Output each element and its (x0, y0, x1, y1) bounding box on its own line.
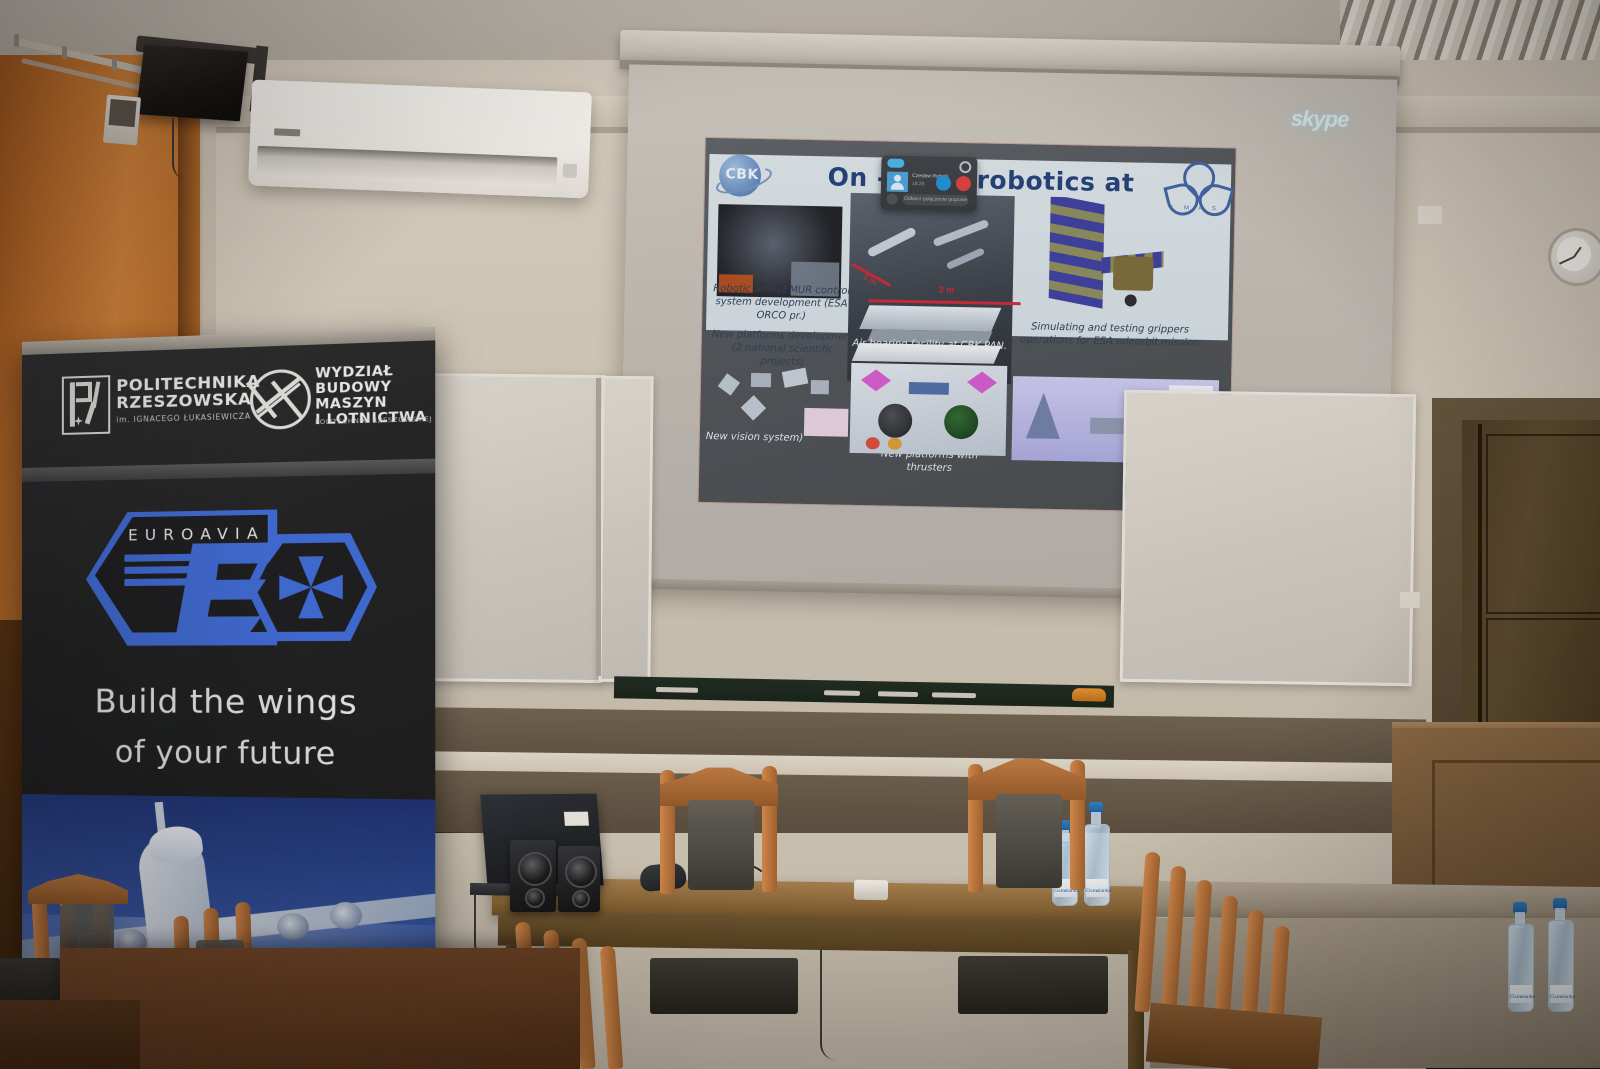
foreground-table-left (0, 1000, 140, 1069)
speaker-woofer (565, 856, 597, 888)
skype-status-text: Odbierz połączenie grupowe (903, 196, 969, 203)
bottle-brand-text: Cisowianka (1510, 995, 1532, 1000)
skype-status-bar[interactable]: Odbierz połączenie grupowe (903, 194, 969, 206)
contact-avatar (887, 172, 908, 192)
answer-call-button[interactable] (936, 176, 951, 191)
whiteboard-eraser[interactable] (1072, 688, 1106, 702)
settings-gear-icon[interactable] (959, 161, 971, 173)
banner-tagline-line2: of your future (22, 734, 435, 773)
slide-caption-grippers: Simulating and testing grippers operatio… (1020, 320, 1200, 350)
euroavia-logo: EUROAVIA (86, 504, 377, 650)
avatar-body-icon (891, 183, 904, 190)
skype-watermark: skype (1291, 106, 1349, 133)
marker[interactable] (656, 687, 698, 693)
whiteboard-panel-right[interactable] (1120, 390, 1417, 687)
side-table (1150, 881, 1600, 923)
airplane-nose (147, 824, 204, 864)
slide-caption-lemur: Robotic arm LEMUR control system develop… (712, 282, 851, 324)
curtain-hook (62, 46, 67, 59)
wall-junction-box (103, 95, 141, 146)
marker[interactable] (878, 691, 918, 697)
slide-graphic-platform-thrusters (850, 363, 1008, 456)
faculty-logo-icon (250, 369, 311, 430)
speaker-tweeter (525, 888, 545, 908)
wall-switch[interactable] (1400, 592, 1420, 608)
whiteboard-panel-hinged[interactable] (598, 376, 653, 683)
water-bottle: Cisowianka (1508, 900, 1532, 1010)
airplane-engine (277, 913, 309, 941)
wall-junction-box-inner (109, 99, 137, 127)
university-name-line2: RZESZOWSKA (116, 389, 251, 412)
end-call-button[interactable] (956, 176, 971, 191)
banner-tagline-line1: Build the wings (22, 682, 435, 722)
desktop-speaker-left (510, 840, 556, 912)
wall-clock (1548, 228, 1600, 286)
speaker-woofer (518, 852, 552, 886)
door-panel-upper (1486, 434, 1600, 614)
airplane-engine (330, 902, 362, 930)
black-wall-panel (136, 45, 248, 122)
power-cable (172, 118, 202, 180)
air-conditioner (248, 80, 592, 199)
politechnika-logo-icon (62, 375, 110, 435)
dimension-label-3m: 3 m (939, 285, 955, 295)
marker[interactable] (932, 692, 976, 698)
more-options-button[interactable] (887, 194, 898, 205)
bottle-label: Cisowianka (1550, 985, 1572, 1003)
skype-call-popup[interactable]: Czesław Rybicki 18:25 Odbierz połączenie… (880, 155, 977, 211)
cbk-logo-text: CBK (721, 166, 763, 183)
whiteboard-hinge (596, 378, 601, 676)
faculty-name-line2: BUDOWY MASZYN (315, 378, 391, 412)
bottle-label: Cisowianka (1086, 879, 1108, 897)
slide-arrow-block (804, 408, 849, 437)
bottle-body: Cisowianka (1084, 824, 1110, 906)
bottle-brand-text: Cisowianka (1086, 889, 1108, 894)
euroavia-wordmark: EUROAVIA (124, 524, 268, 545)
whiteboard-panel-left[interactable] (414, 373, 605, 683)
curtain-hook (112, 58, 117, 71)
slide-photo-satellite (1020, 196, 1223, 340)
wall-outlet[interactable] (1418, 206, 1442, 224)
cbk-logo: CBK (715, 152, 770, 201)
bottle-body: Cisowianka (1548, 920, 1574, 1012)
marker[interactable] (824, 690, 860, 696)
water-bottle: Cisowianka (1548, 896, 1572, 1010)
lecture-hall-photo: skype CBK On - orbit robotics at CBK L M… (0, 0, 1600, 1069)
skype-logo-icon (887, 159, 904, 168)
banner-brand-row: POLITECHNIKA RZESZOWSKA im. IGNACEGO ŁUK… (22, 350, 435, 468)
desktop-speaker-right (558, 846, 600, 912)
university-name: POLITECHNIKA RZESZOWSKA (116, 372, 260, 411)
avatar-head-icon (894, 175, 901, 182)
curtain-hook (14, 34, 19, 47)
laptop-sticker (564, 812, 589, 826)
ac-brand-mark (274, 128, 300, 136)
bottle-brand-text: Cisowianka (1550, 995, 1572, 1000)
bottle-body: Cisowianka (1508, 924, 1534, 1012)
ac-air-vent (256, 146, 557, 187)
power-adapter (854, 880, 888, 901)
ac-indicator-panel (563, 164, 578, 179)
bottle-label: Cisowianka (1510, 985, 1532, 1003)
speaker-tweeter (572, 890, 590, 908)
slide-photo-air-bearing-facility (847, 193, 1015, 384)
floor-cable (820, 950, 856, 1060)
skype-call-time: 18:25 (912, 181, 925, 187)
university-subtitle: im. IGNACEGO ŁUKASIEWICZA (116, 412, 251, 425)
slide-caption-platforms: New platforms development (2 national sc… (711, 328, 854, 370)
water-bottle: Cisowianka (1084, 800, 1108, 904)
